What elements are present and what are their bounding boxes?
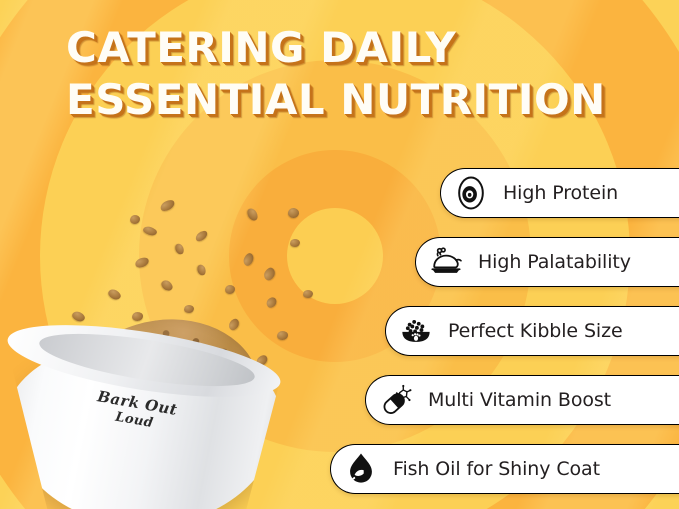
feature-label: Multi Vitamin Boost [428,389,611,411]
roast-chicken-icon [424,240,468,284]
feature-pill-multi-vitamin-boost[interactable]: Multi Vitamin Boost [365,375,679,425]
feature-pill-high-palatability[interactable]: High Palatability [415,237,679,287]
egg-icon [449,171,493,215]
page-title: CATERING DAILY ESSENTIAL NUTRITION [66,22,626,126]
fish-oil-droplet-icon [339,447,383,491]
headline-line-1: CATERING DAILY [66,22,626,74]
feature-label: Fish Oil for Shiny Coat [393,458,600,480]
feature-pill-high-protein[interactable]: High Protein [440,168,679,218]
feature-label: High Palatability [478,251,631,273]
feature-pill-perfect-kibble-size[interactable]: Perfect Kibble Size [385,306,679,356]
dog-food-bowl-image: Bark Out Loud [8,318,288,509]
background-ring-0 [287,208,383,304]
dog-food-bowl-icon [394,309,438,353]
feature-label: High Protein [503,182,618,204]
headline-line-2: ESSENTIAL NUTRITION [66,74,626,126]
capsule-molecule-icon [374,378,418,422]
feature-pill-fish-oil[interactable]: Fish Oil for Shiny Coat [330,444,679,494]
feature-label: Perfect Kibble Size [448,320,623,342]
poster-canvas: CATERING DAILY ESSENTIAL NUTRITION Bark … [0,0,679,509]
